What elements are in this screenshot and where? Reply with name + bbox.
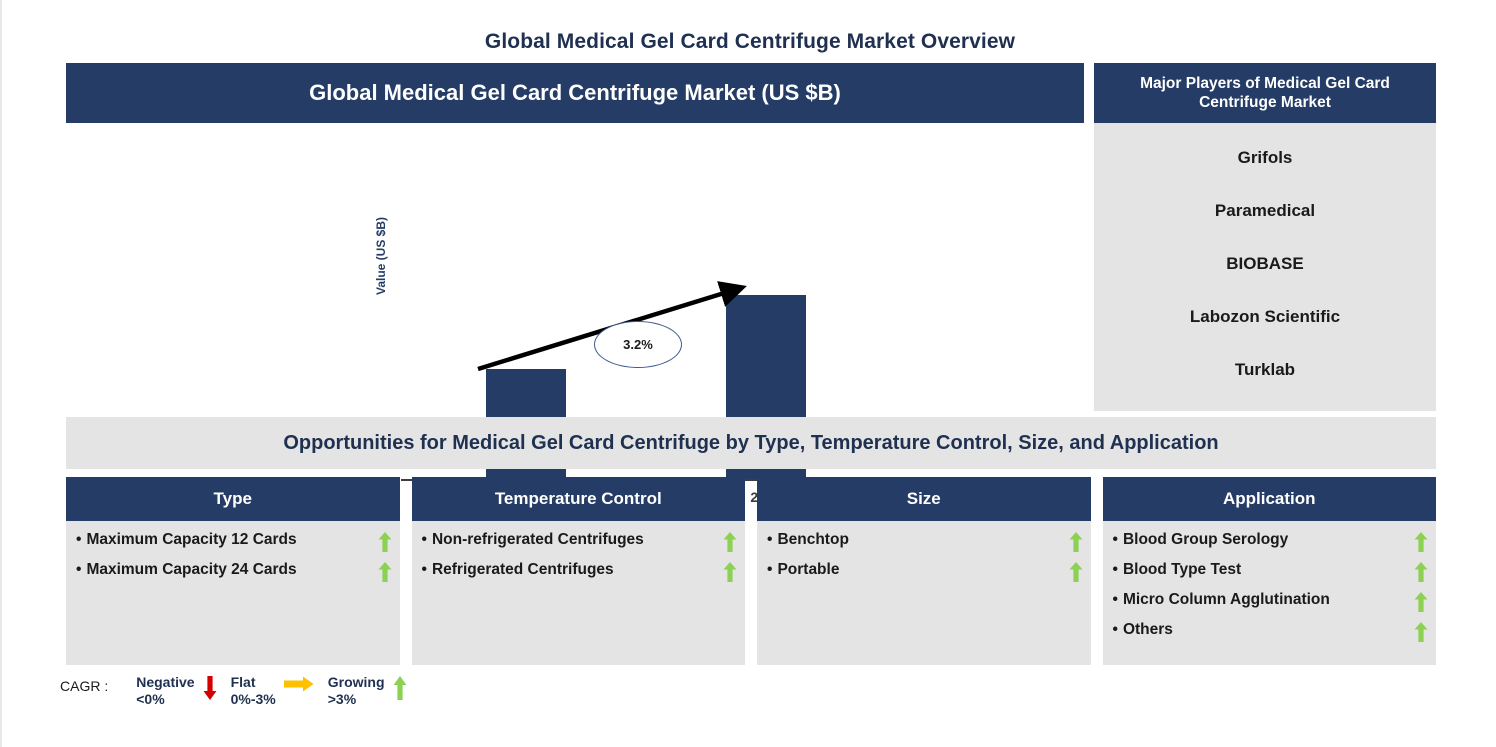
legend-negative-text: Negative <0% [136,674,194,708]
list-item: Portable [765,560,1083,587]
list-item: Blood Group Serology [1111,530,1429,557]
legend-growing-range: >3% [328,691,385,708]
column-header: Type [66,477,400,521]
column-body: Benchtop Portable [757,521,1091,665]
arrow-up-green-icon [1414,532,1428,557]
column-application: Application Blood Group Serology Blood T… [1103,477,1437,665]
arrow-up-green-icon [1069,562,1083,587]
legend-flat-name: Flat [231,674,276,691]
arrow-up-green-icon [1414,622,1428,647]
list-item: Maximum Capacity 12 Cards [74,530,392,557]
list-item-label: Maximum Capacity 12 Cards [74,530,297,550]
legend-negative-name: Negative [136,674,194,691]
list-item-label: Non-refrigerated Centrifuges [420,530,644,550]
arrow-up-green-icon [378,532,392,557]
list-item: Paramedical [1215,201,1315,221]
opportunity-columns: Type Maximum Capacity 12 Cards Maximum C… [66,477,1436,665]
list-item: Refrigerated Centrifuges [420,560,738,587]
column-type: Type Maximum Capacity 12 Cards Maximum C… [66,477,400,665]
list-item: Micro Column Agglutination [1111,590,1429,617]
arrow-down-red-icon [203,676,217,705]
list-item-label: Portable [765,560,839,580]
column-temperature-control: Temperature Control Non-refrigerated Cen… [412,477,746,665]
arrow-up-green-icon [393,676,407,705]
market-chart-panel: Global Medical Gel Card Centrifuge Marke… [66,63,1084,411]
list-item: Non-refrigerated Centrifuges [420,530,738,557]
market-chart-header: Global Medical Gel Card Centrifuge Marke… [66,63,1084,123]
legend-growing-name: Growing [328,674,385,691]
column-body: Blood Group Serology Blood Type Test Mic… [1103,521,1437,665]
list-item: Others [1111,620,1429,647]
y-axis-label: Value (US $B) [374,185,388,295]
legend-item-negative: Negative <0% [136,674,224,708]
column-header: Application [1103,477,1437,521]
cagr-legend: CAGR : Negative <0% Flat 0%-3% Growing >… [60,674,421,720]
list-item-label: Benchtop [765,530,849,550]
list-item: Turklab [1235,360,1295,380]
arrow-up-green-icon [1414,562,1428,587]
column-header: Size [757,477,1091,521]
opportunities-band: Opportunities for Medical Gel Card Centr… [66,417,1436,469]
major-players-header: Major Players of Medical Gel Card Centri… [1094,63,1436,123]
list-item-label: Blood Type Test [1111,560,1242,580]
list-item: Blood Type Test [1111,560,1429,587]
legend-negative-range: <0% [136,691,194,708]
legend-item-growing: Growing >3% [328,674,415,708]
list-item-label: Maximum Capacity 24 Cards [74,560,297,580]
list-item: Grifols [1238,148,1293,168]
major-players-list: Grifols Paramedical BIOBASE Labozon Scie… [1094,123,1436,411]
arrow-up-green-icon [378,562,392,587]
list-item-label: Micro Column Agglutination [1111,590,1330,610]
legend-flat-text: Flat 0%-3% [231,674,276,708]
column-body: Non-refrigerated Centrifuges Refrigerate… [412,521,746,665]
arrow-up-green-icon [1069,532,1083,557]
list-item-label: Refrigerated Centrifuges [420,560,614,580]
page-title: Global Medical Gel Card Centrifuge Marke… [2,30,1496,54]
list-item: Maximum Capacity 24 Cards [74,560,392,587]
arrow-up-green-icon [723,562,737,587]
column-size: Size Benchtop Portable [757,477,1091,665]
arrow-up-green-icon [1414,592,1428,617]
list-item: Benchtop [765,530,1083,557]
major-players-panel: Major Players of Medical Gel Card Centri… [1094,63,1436,411]
list-item: Labozon Scientific [1190,307,1340,327]
list-item-label: Others [1111,620,1173,640]
legend-flat-range: 0%-3% [231,691,276,708]
legend-item-flat: Flat 0%-3% [231,674,322,708]
arrow-right-yellow-icon [284,676,314,697]
cagr-legend-label: CAGR : [60,678,108,694]
bar-chart: Value (US $B) 2025 2031 3.2% [66,123,1084,411]
arrow-up-green-icon [723,532,737,557]
list-item-label: Blood Group Serology [1111,530,1289,550]
column-header: Temperature Control [412,477,746,521]
legend-growing-text: Growing >3% [328,674,385,708]
opportunities-title: Opportunities for Medical Gel Card Centr… [283,432,1218,455]
list-item: BIOBASE [1226,254,1303,274]
cagr-value-bubble: 3.2% [594,321,682,368]
column-body: Maximum Capacity 12 Cards Maximum Capaci… [66,521,400,665]
